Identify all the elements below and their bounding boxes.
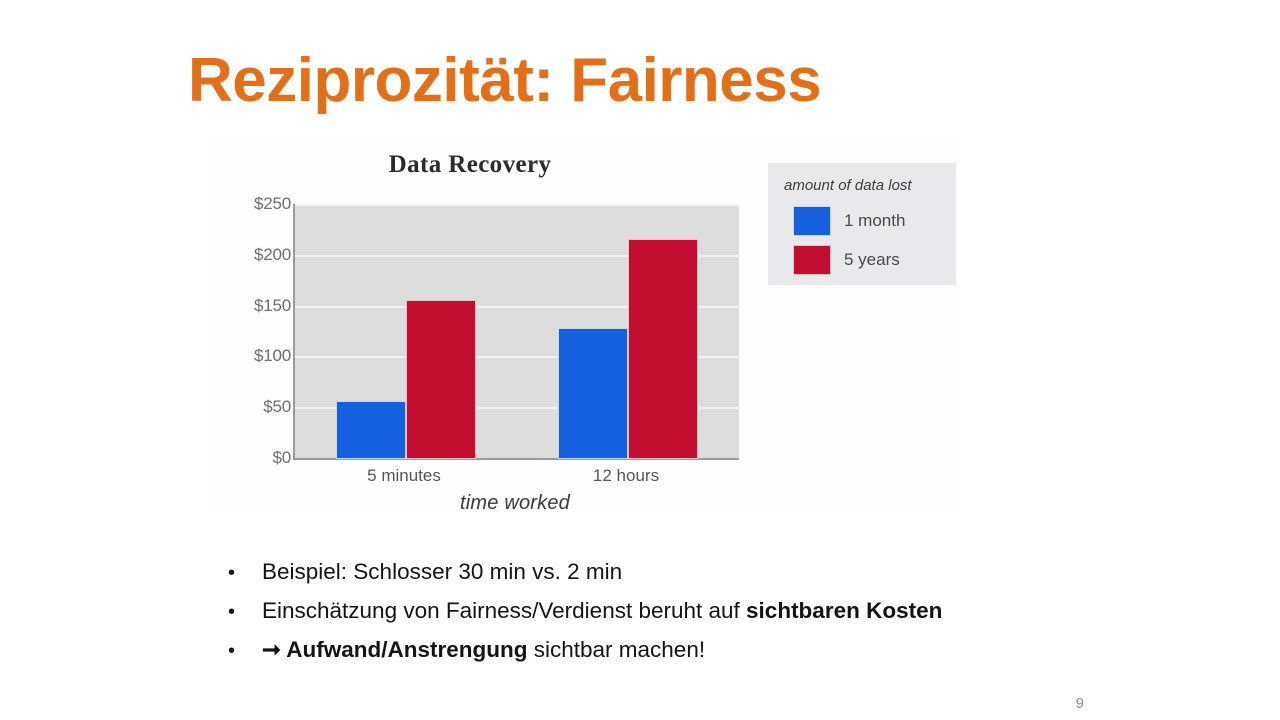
legend-swatch-icon [794,207,830,235]
y-axis-tick: $100 [235,346,291,366]
x-axis-tick: 5 minutes [367,466,441,486]
bullet-list: •Beispiel: Schlosser 30 min vs. 2 min•Ei… [228,558,1128,675]
bullet-marker-icon: • [228,561,262,586]
y-axis-tick: $150 [235,296,291,316]
list-item: •➞ Aufwand/Anstrengung sichtbar machen! [228,636,1128,664]
legend-title: amount of data lost [784,177,912,194]
bullet-marker-icon: • [228,639,262,664]
chart-figure: Data Recovery $250$200$150$100$50$0 time… [205,140,963,513]
plot-area [293,204,739,460]
chart-legend: amount of data lost 1 month5 years [768,163,956,285]
bar-12-hours-5-years [629,240,697,458]
list-item: •Beispiel: Schlosser 30 min vs. 2 min [228,558,1128,586]
y-axis-tick: $0 [235,448,291,468]
x-axis-tick: 12 hours [593,466,659,486]
bar-12-hours-1-month [559,329,627,458]
bar-5-minutes-1-month [337,402,405,458]
gridline [295,204,739,206]
y-axis-tick: $250 [235,194,291,214]
slide-number: 9 [1076,695,1084,712]
bullet-marker-icon: • [228,600,262,625]
list-item: •Einschätzung von Fairness/Verdienst ber… [228,597,1128,625]
legend-swatch-icon [794,246,830,274]
y-axis-tick-labels: $250$200$150$100$50$0 [229,140,291,513]
y-axis-tick: $200 [235,245,291,265]
legend-item-5-years: 5 years [794,246,900,274]
y-axis-tick: $50 [235,397,291,417]
bullet-text: Einschätzung von Fairness/Verdienst beru… [262,597,942,625]
legend-label: 1 month [844,211,905,231]
legend-label: 5 years [844,250,900,270]
page-title: Reziprozität: Fairness [188,48,1148,113]
bar-5-minutes-5-years [407,301,475,458]
legend-item-1-month: 1 month [794,207,905,235]
bullet-text: Beispiel: Schlosser 30 min vs. 2 min [262,558,622,586]
bullet-text: ➞ Aufwand/Anstrengung sichtbar machen! [262,636,705,664]
x-axis-title: time worked [293,492,737,515]
